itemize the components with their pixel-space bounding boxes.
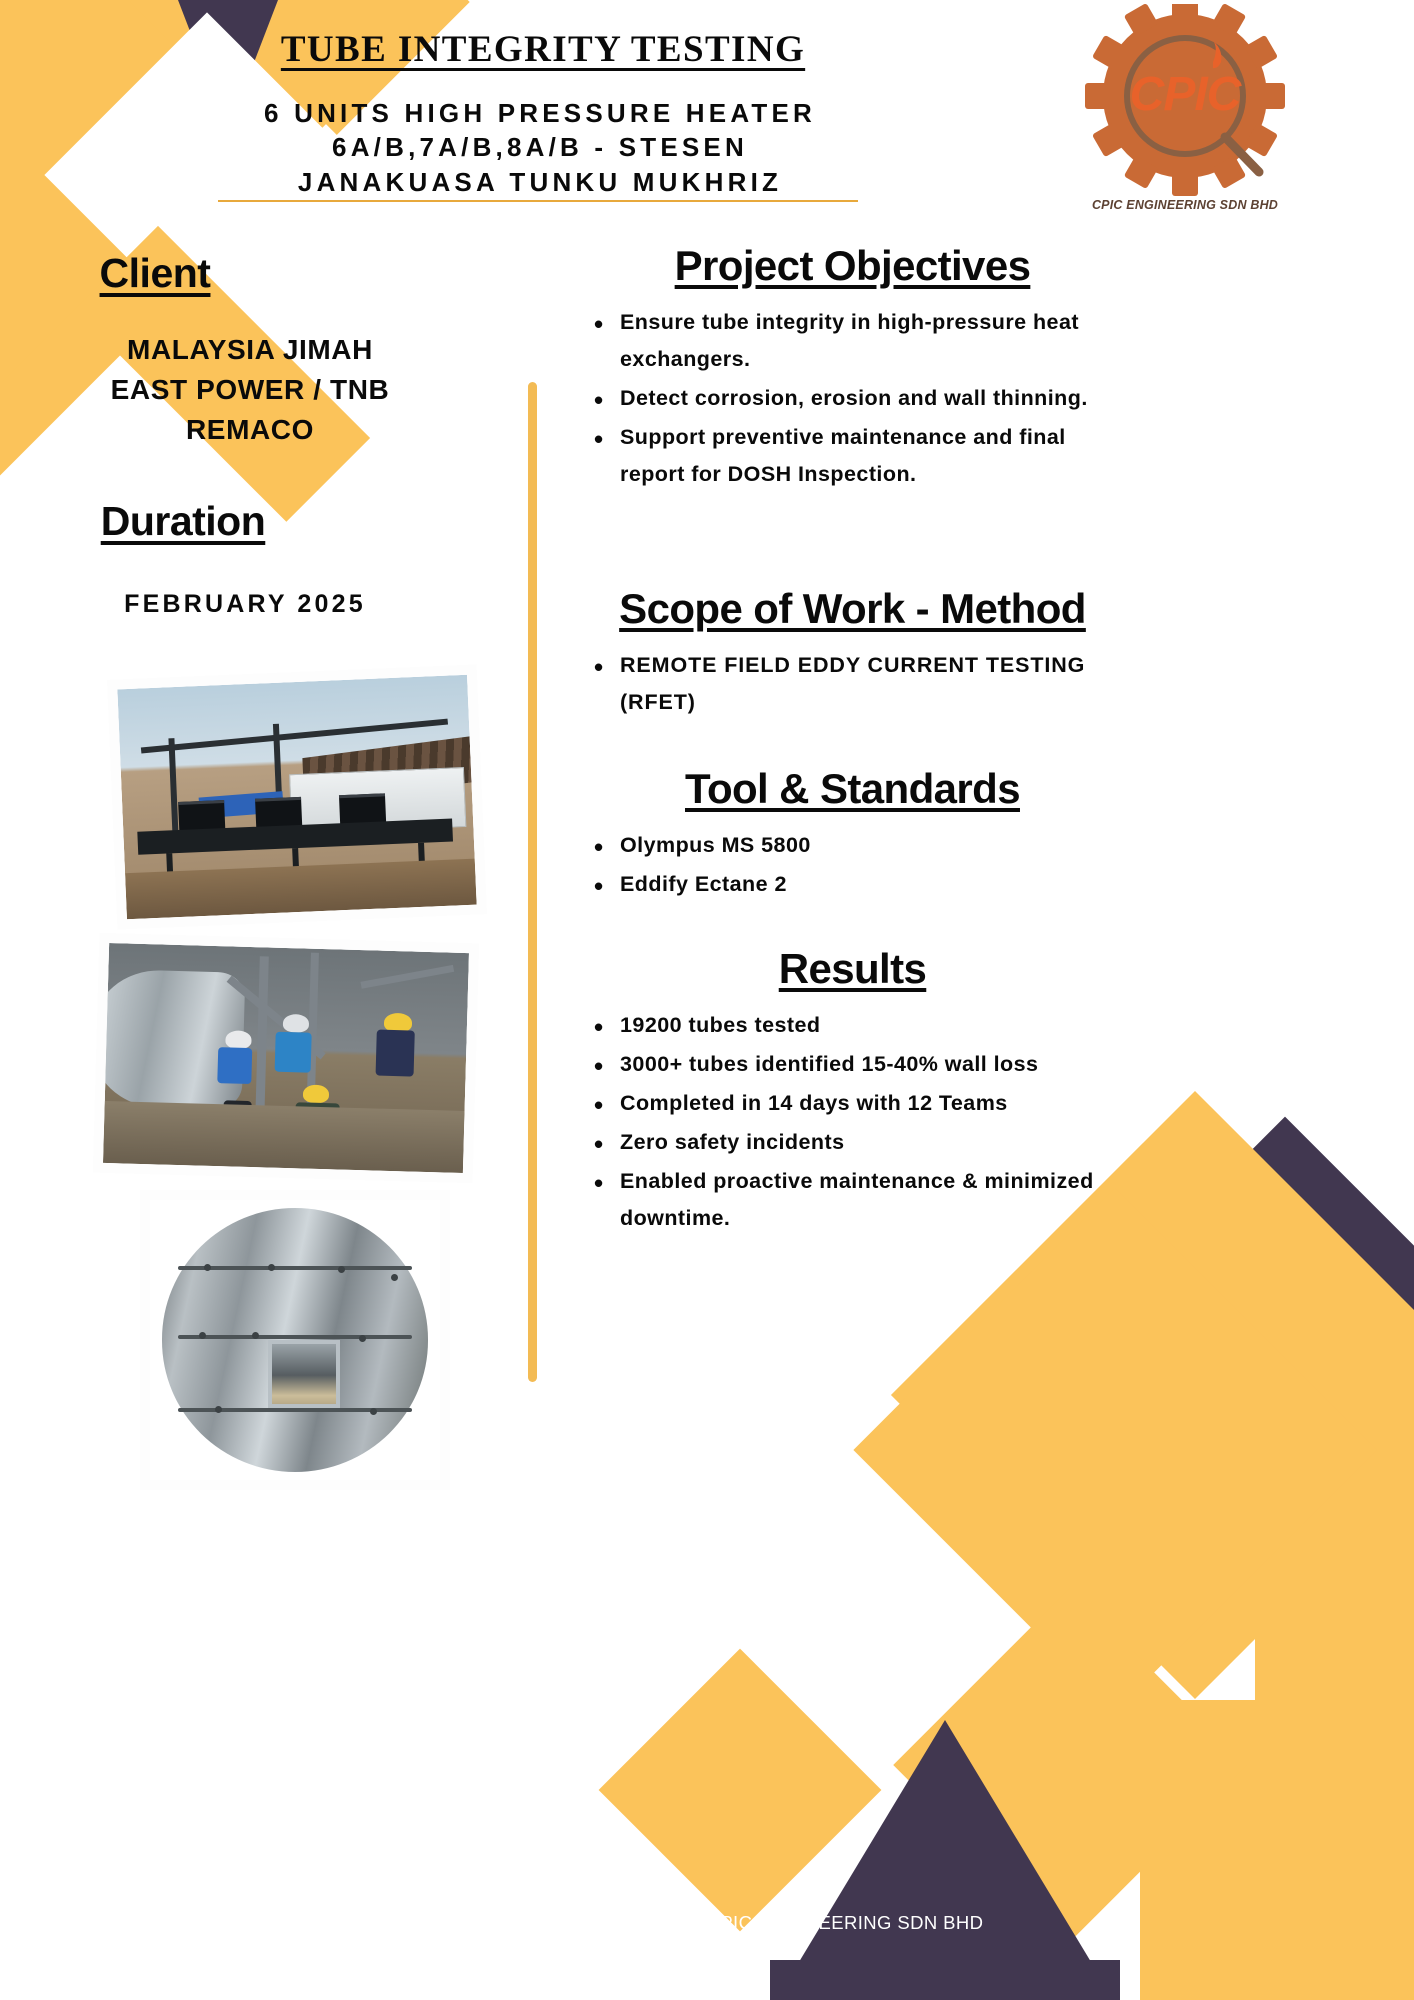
client-line-3: REMACO	[20, 410, 480, 450]
photo-3-art	[150, 1200, 440, 1480]
photo-team-inspection-heat-exchanger	[93, 933, 480, 1184]
duration-heading: Duration	[0, 498, 366, 545]
list-item: Detect corrosion, erosion and wall thinn…	[586, 380, 1125, 417]
page-title: TUBE INTEGRITY TESTING	[218, 28, 868, 71]
photo-1-image	[117, 675, 476, 919]
list-item: Support preventive maintenance and final…	[586, 419, 1125, 493]
results-heading: Results	[580, 945, 1125, 993]
objectives-heading: Project Objectives	[580, 242, 1125, 290]
photo-heater-channel-head-manway	[140, 1190, 450, 1490]
photo-2-image	[103, 943, 469, 1173]
poster-canvas: TUBE INTEGRITY TESTING 6 UNITS HIGH PRES…	[0, 0, 1414, 2000]
logo-caption: CPIC ENGINEERING SDN BHD	[1065, 198, 1305, 212]
photo-site-office-testing-station	[107, 664, 487, 929]
list-item: 19200 tubes tested	[586, 1007, 1125, 1044]
decor-purple-base	[770, 1960, 1120, 2000]
duration-value: FEBRUARY 2025	[30, 590, 460, 619]
client-value: MALAYSIA JIMAH EAST POWER / TNB REMACO	[20, 330, 480, 449]
list-item: Zero safety incidents	[586, 1124, 1125, 1161]
cpic-gear-logo-icon: CPIC	[1065, 4, 1305, 204]
subtitle-line-2: 6A/B,7A/B,8A/B - STESEN	[200, 130, 880, 164]
tools-heading: Tool & Standards	[580, 765, 1125, 813]
svg-text:CPIC: CPIC	[1130, 68, 1243, 121]
scope-list: REMOTE FIELD EDDY CURRENT TESTING (RFET)	[586, 647, 1125, 721]
vertical-divider	[528, 382, 537, 1382]
section-project-objectives: Project Objectives Ensure tube integrity…	[580, 242, 1125, 495]
section-scope-of-work: Scope of Work - Method REMOTE FIELD EDDY…	[580, 585, 1125, 723]
subtitle-line-3: JANAKUASA TUNKU MUKHRIZ	[200, 165, 880, 199]
page-subtitle: 6 UNITS HIGH PRESSURE HEATER 6A/B,7A/B,8…	[200, 96, 880, 199]
header-divider-rule	[218, 200, 858, 202]
list-item: REMOTE FIELD EDDY CURRENT TESTING (RFET)	[586, 647, 1125, 721]
section-tool-and-standards: Tool & Standards Olympus MS 5800 Eddify …	[580, 765, 1125, 905]
client-heading: Client	[0, 250, 310, 297]
decor-purple-triangle-bottom	[770, 1720, 1120, 2000]
list-item: Olympus MS 5800	[586, 827, 1125, 864]
photo-2-art	[103, 943, 469, 1173]
photo-3-image	[150, 1200, 440, 1480]
section-results: Results 19200 tubes tested 3000+ tubes i…	[580, 945, 1125, 1239]
objectives-list: Ensure tube integrity in high-pressure h…	[586, 304, 1125, 493]
scope-heading: Scope of Work - Method	[580, 585, 1125, 633]
client-line-1: MALAYSIA JIMAH	[20, 330, 480, 370]
list-item: Eddify Ectane 2	[586, 866, 1125, 903]
tools-list: Olympus MS 5800 Eddify Ectane 2	[586, 827, 1125, 903]
photo-1-art	[117, 675, 476, 919]
list-item: 3000+ tubes identified 15-40% wall loss	[586, 1046, 1125, 1083]
list-item: Completed in 14 days with 12 Teams	[586, 1085, 1125, 1122]
footer-company-name: CPIC ENGINEERING SDN BHD	[700, 1912, 990, 1934]
results-list: 19200 tubes tested 3000+ tubes identifie…	[586, 1007, 1125, 1237]
subtitle-line-1: 6 UNITS HIGH PRESSURE HEATER	[200, 96, 880, 130]
list-item: Enabled proactive maintenance & minimize…	[586, 1163, 1125, 1237]
company-logo: CPIC CPIC ENGINEERING SDN BHD	[1065, 4, 1305, 214]
client-line-2: EAST POWER / TNB	[20, 370, 480, 410]
list-item: Ensure tube integrity in high-pressure h…	[586, 304, 1125, 378]
